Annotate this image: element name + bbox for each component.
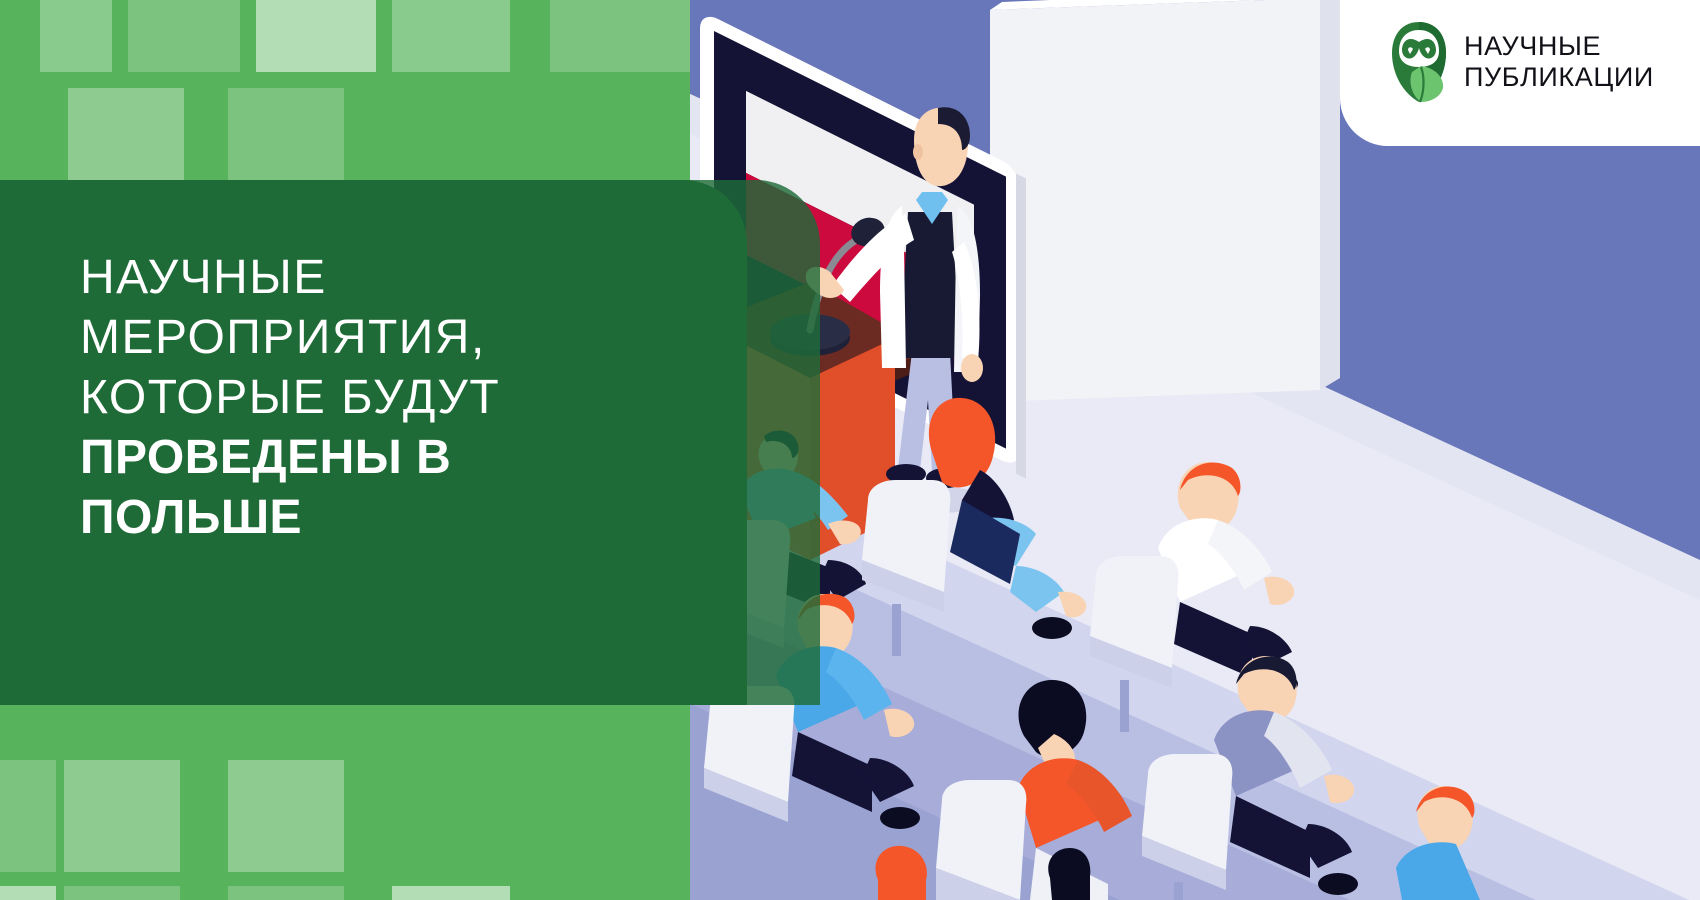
decor-square [392,0,510,72]
decor-square [392,886,510,900]
decor-square [128,0,240,72]
promo-banner: НАУЧНЫЕ МЕРОПРИЯТИЯ, КОТОРЫЕ БУДУТ ПРОВЕ… [0,0,1700,900]
headline-line-3: КОТОРЫЕ БУДУТ [80,368,680,428]
decor-square [256,0,376,72]
decor-square [228,760,344,872]
headline-line-1: НАУЧНЫЕ [80,248,680,308]
logo-line-1: НАУЧНЫЕ [1464,31,1601,61]
logo-line-2: ПУБЛИКАЦИИ [1464,62,1654,92]
decor-square [0,760,56,872]
headline-line-5: ПОЛЬШЕ [80,488,680,548]
page-title: НАУЧНЫЕ МЕРОПРИЯТИЯ, КОТОРЫЕ БУДУТ ПРОВЕ… [80,248,680,548]
headline-line-2: МЕРОПРИЯТИЯ, [80,308,680,368]
decor-square [64,760,180,872]
logo-plate[interactable]: НАУЧНЫЕ ПУБЛИКАЦИИ [1340,0,1700,146]
headline-line-4: ПРОВЕДЕНЫ В [80,428,680,488]
decor-square [40,0,112,72]
logo-wordmark: НАУЧНЫЕ ПУБЛИКАЦИИ [1464,31,1654,93]
owl-leaf-icon [1388,20,1450,104]
decor-square [64,886,180,900]
audience-member [1048,848,1090,900]
decor-square [550,0,690,72]
decor-square [0,886,56,900]
decor-square [228,886,344,900]
